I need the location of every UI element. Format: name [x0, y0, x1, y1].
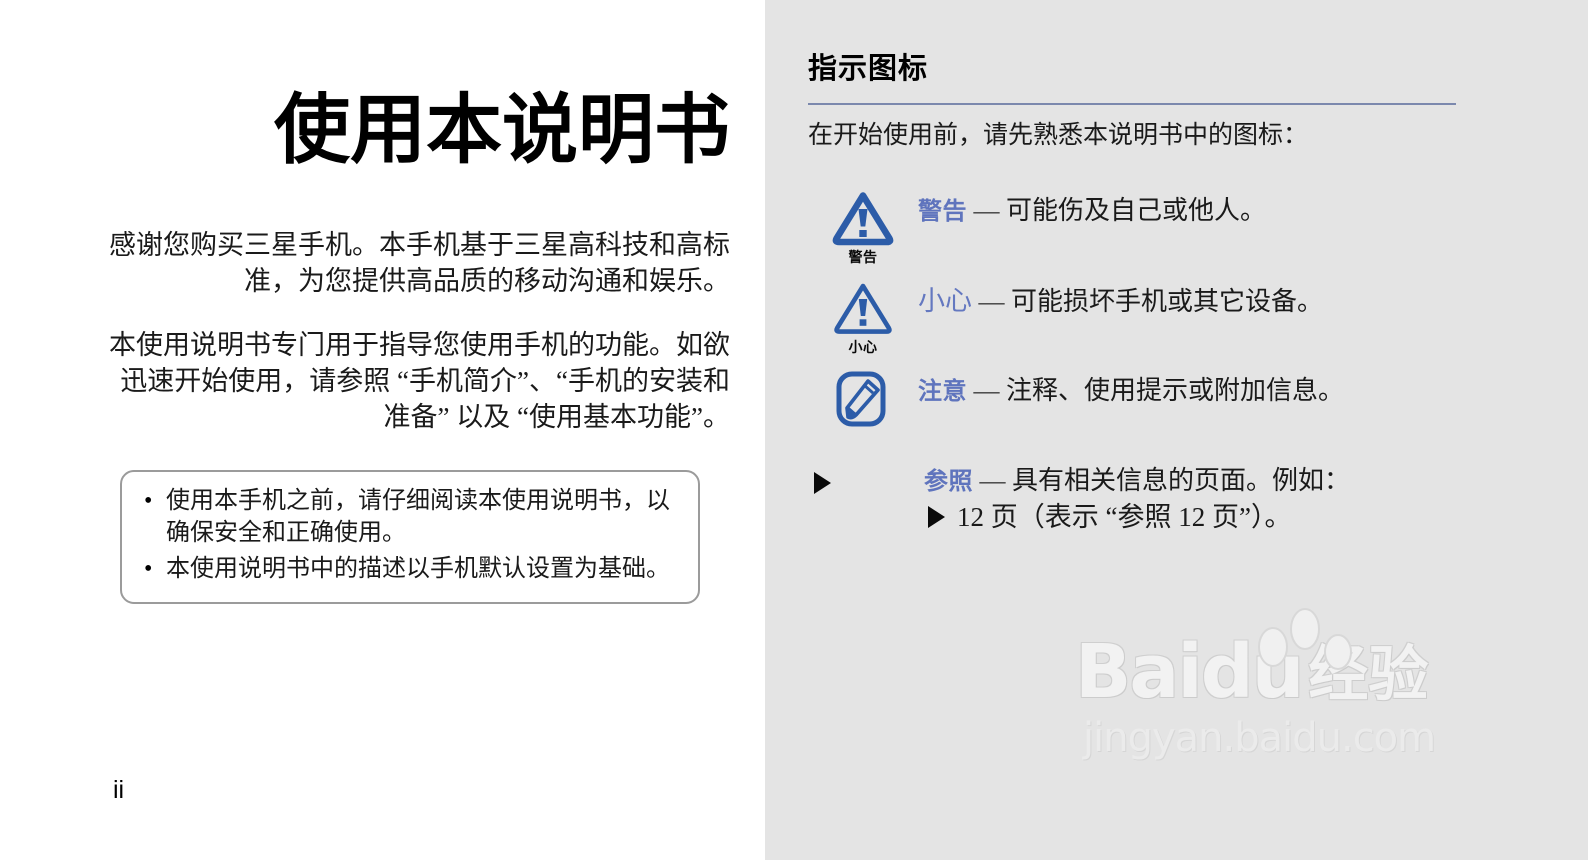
legend-dash: — [980, 466, 1006, 495]
legend-text-warning: 警告 — 可能伤及自己或他人。 [918, 186, 1568, 228]
legend-description-reference: 具有相关信息的页面。例如： [1012, 466, 1350, 495]
caution-icon-cell: 小心 [808, 276, 918, 357]
legend-row-caution: 小心 小心 — 可能损坏手机或其它设备。 [808, 276, 1568, 366]
watermark-url: jingyan.baidu.com [1083, 715, 1495, 761]
warning-icon-caption: 警告 [849, 247, 878, 267]
baidu-watermark: Bai du 经验 jingyan.baidu.com [1075, 615, 1495, 761]
legend-keyword-reference: 参照 [924, 467, 973, 495]
note-list: • 使用本手机之前，请仔细阅读本使用说明书，以确保安全和正确使用。 • 本使用说… [140, 486, 676, 586]
play-triangle-marker-icon [814, 472, 831, 494]
document-page: 使用本说明书 感谢您购买三星手机。本手机基于三星高科技和高标准，为您提供高品质的… [0, 0, 1588, 860]
legend-dash: — [974, 376, 1000, 405]
legend-description-warning: 可能伤及自己或他人。 [1006, 196, 1266, 225]
caution-triangle-icon [832, 280, 894, 336]
section-heading: 指示图标 [808, 52, 928, 85]
legend-text-caution: 小心 — 可能损坏手机或其它设备。 [918, 276, 1568, 319]
watermark-brand-bai: Bai [1075, 637, 1201, 707]
reference-example-text: 12 页（表示 “参照 12 页”）。 [957, 500, 1291, 535]
warning-icon-cell: 警告 [808, 186, 918, 267]
intro-paragraph-2: 本使用说明书专门用于指导您使用手机的功能。如欲迅速开始使用，请参照 “手机简介”… [105, 328, 730, 436]
section-intro-text: 在开始使用前，请先熟悉本说明书中的图标： [808, 120, 1308, 153]
legend-row-reference: 参照 — 具有相关信息的页面。例如： 12 页（表示 “参照 12 页”）。 [808, 456, 1568, 556]
list-item: • 本使用说明书中的描述以手机默认设置为基础。 [140, 554, 676, 586]
list-item: • 使用本手机之前，请仔细阅读本使用说明书，以确保安全和正确使用。 [140, 486, 676, 550]
legend-dash: — [974, 196, 1000, 225]
note-pencil-icon [834, 370, 892, 428]
bullet-glyph: • [144, 486, 152, 518]
warning-triangle-icon [832, 190, 894, 246]
legend-row-warning: 警告 警告 — 可能伤及自己或他人。 [808, 186, 1568, 276]
heading-divider [808, 103, 1456, 105]
bullet-glyph: • [144, 554, 152, 586]
right-page-panel: 指示图标 在开始使用前，请先熟悉本说明书中的图标： 警告 警告 — 可能伤及自己… [765, 0, 1588, 860]
page-number: ii [113, 776, 124, 805]
legend-description-caution: 可能损坏手机或其它设备。 [1011, 287, 1323, 316]
watermark-logo: Bai du 经验 [1075, 615, 1495, 707]
legend-text-note: 注意 — 注释、使用提示或附加信息。 [918, 366, 1568, 408]
list-item-text: 本使用说明书中的描述以手机默认设置为基础。 [166, 556, 670, 582]
left-page-panel: 使用本说明书 感谢您购买三星手机。本手机基于三星高科技和高标准，为您提供高品质的… [0, 0, 765, 860]
legend-description-note: 注释、使用提示或附加信息。 [1006, 376, 1344, 405]
icon-legend-list: 警告 警告 — 可能伤及自己或他人。 小心 小 [808, 186, 1568, 556]
legend-keyword-caution: 小心 [918, 286, 972, 316]
list-item-text: 使用本手机之前，请仔细阅读本使用说明书，以确保安全和正确使用。 [166, 488, 670, 546]
note-callout-box: • 使用本手机之前，请仔细阅读本使用说明书，以确保安全和正确使用。 • 本使用说… [120, 470, 700, 604]
play-triangle-marker-icon [928, 506, 945, 528]
reference-example-line: 12 页（表示 “参照 12 页”）。 [924, 500, 1568, 535]
paw-print-icon [1243, 607, 1363, 697]
intro-paragraphs: 感谢您购买三星手机。本手机基于三星高科技和高标准，为您提供高品质的移动沟通和娱乐… [105, 228, 730, 436]
legend-row-note: 注意 — 注释、使用提示或附加信息。 [808, 366, 1568, 456]
legend-keyword-warning: 警告 [918, 197, 967, 225]
caution-icon-caption: 小心 [849, 337, 878, 357]
reference-marker-cell [808, 456, 924, 494]
note-icon-cell [808, 366, 918, 429]
page-title: 使用本说明书 [0, 92, 730, 168]
legend-dash: — [979, 287, 1005, 316]
intro-paragraph-1: 感谢您购买三星手机。本手机基于三星高科技和高标准，为您提供高品质的移动沟通和娱乐… [105, 228, 730, 300]
legend-text-reference: 参照 — 具有相关信息的页面。例如： 12 页（表示 “参照 12 页”）。 [924, 456, 1568, 535]
legend-keyword-note: 注意 [918, 377, 967, 405]
